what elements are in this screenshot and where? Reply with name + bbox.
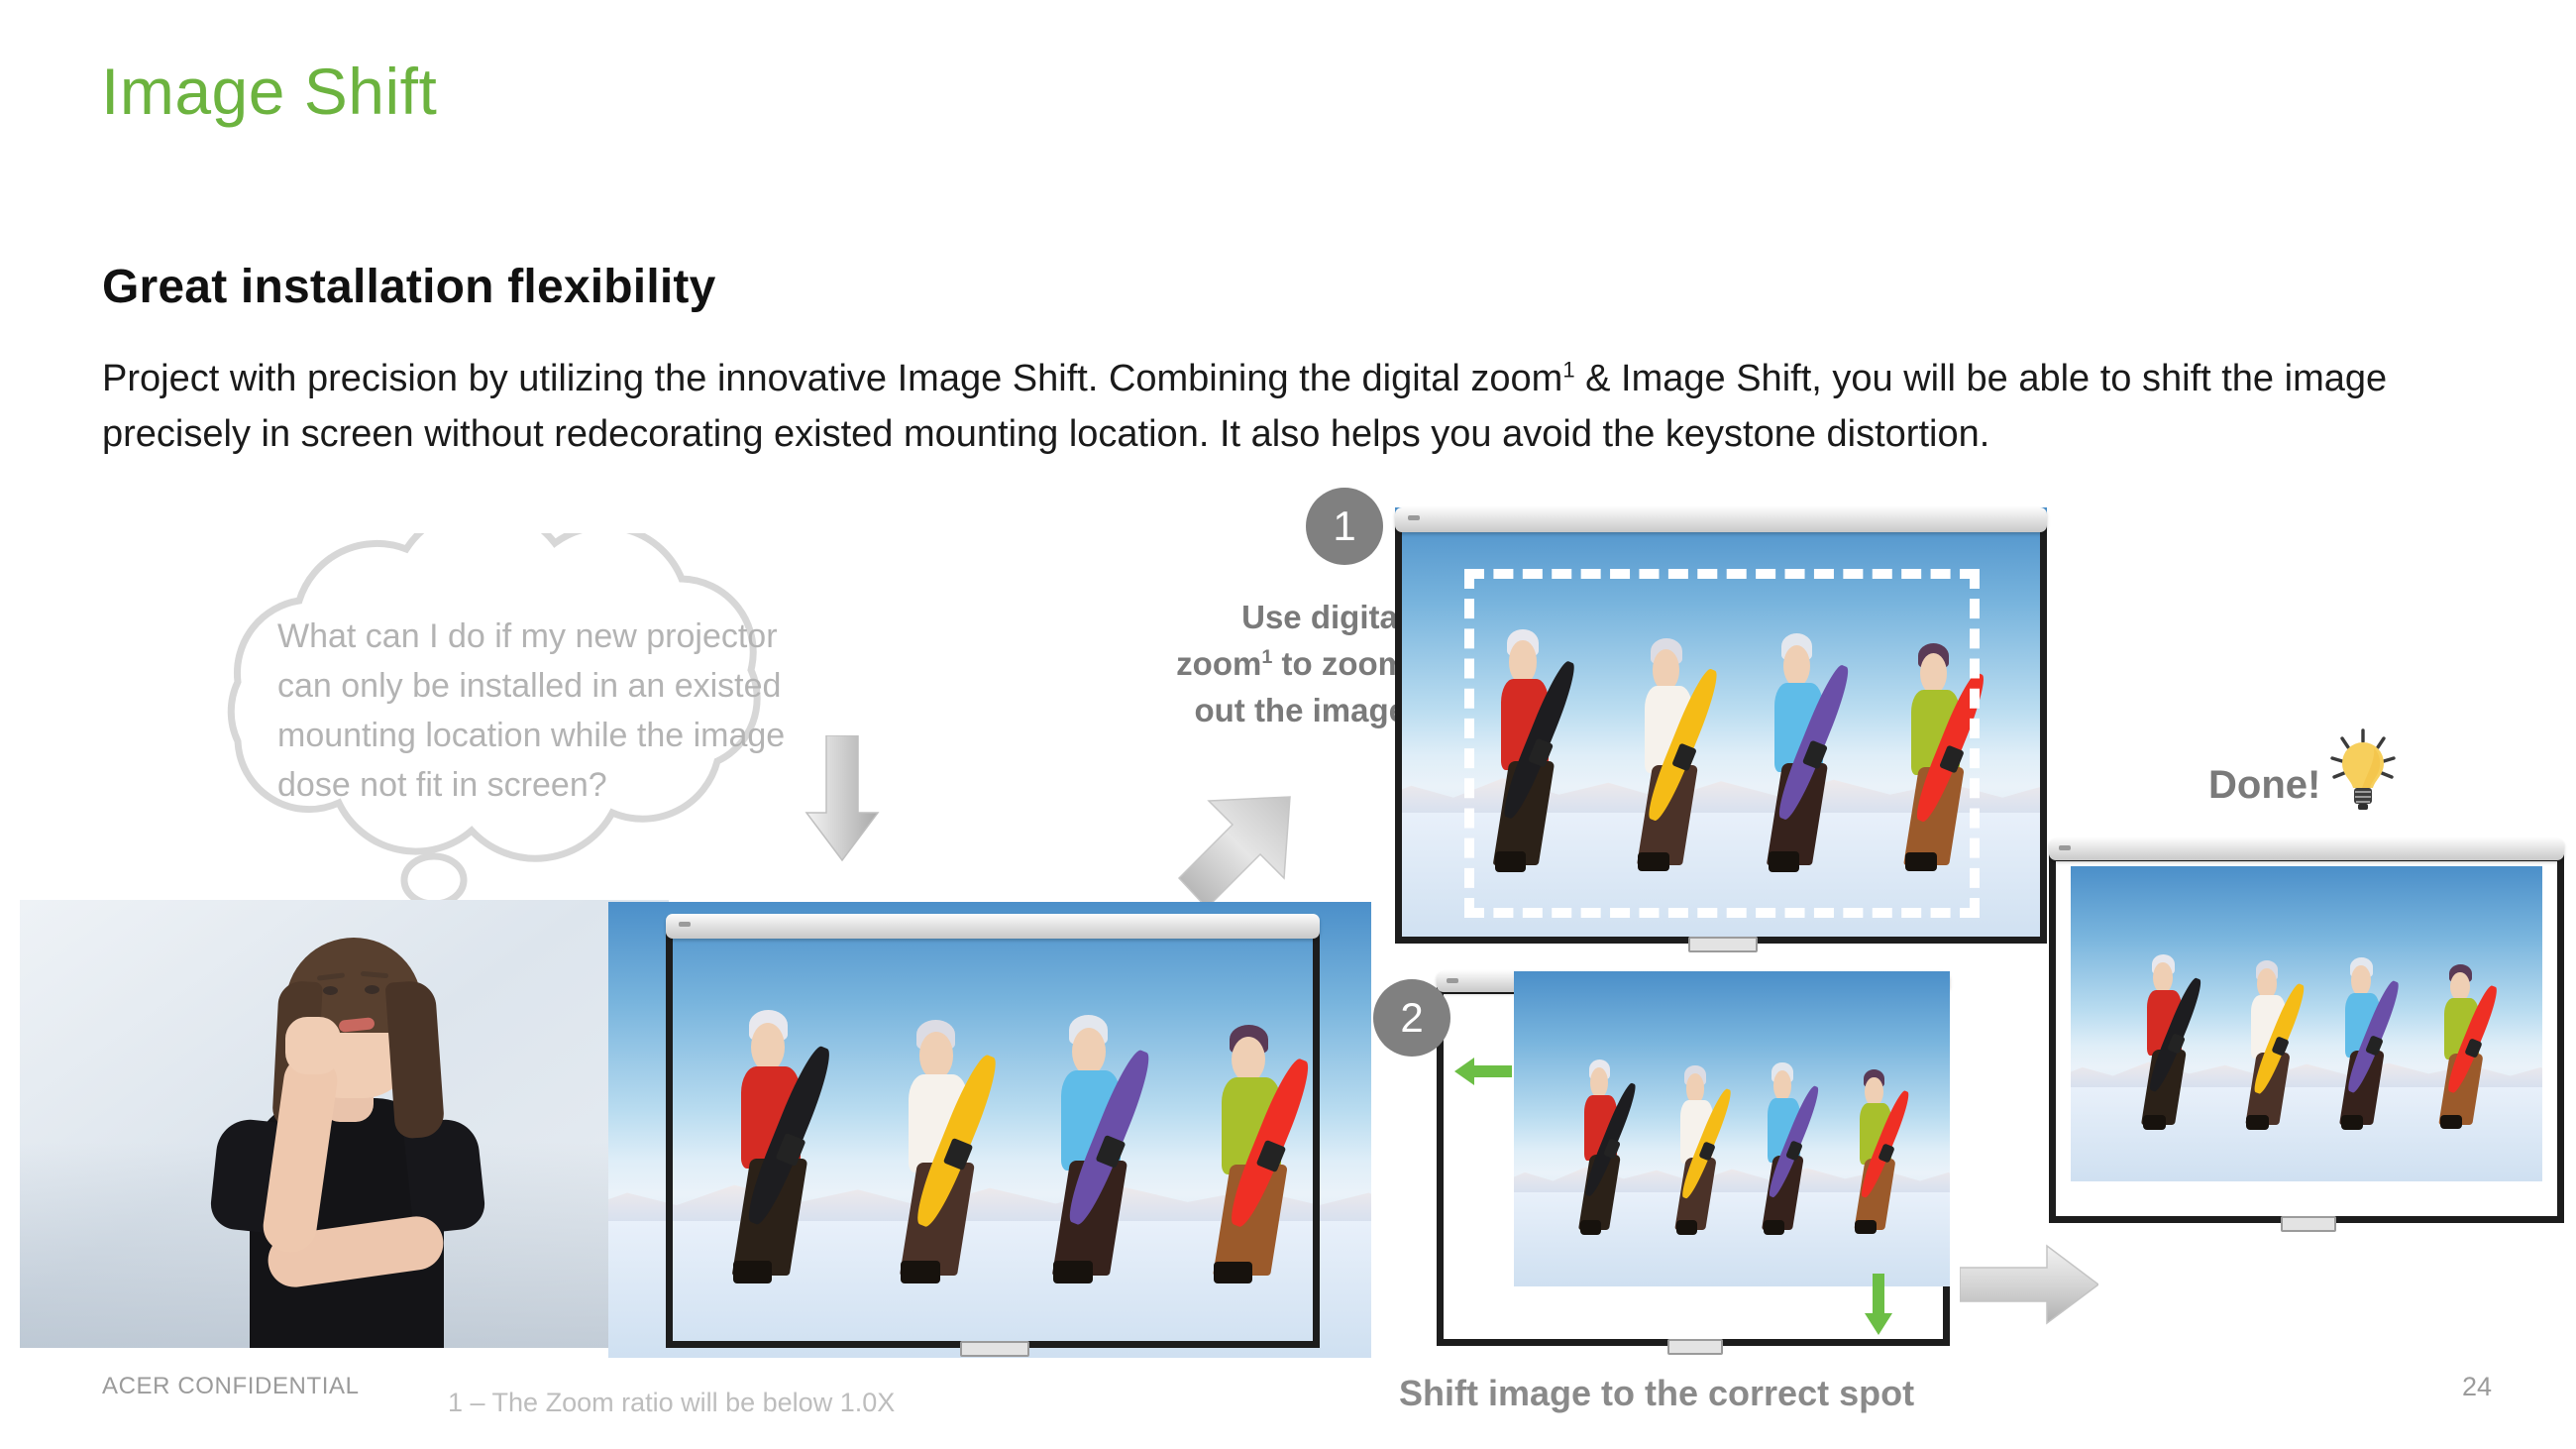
- rider-head: [1865, 1077, 1882, 1107]
- rider-boot: [2143, 1115, 2166, 1130]
- arrow-down-green-icon: [1863, 1274, 1894, 1335]
- snowboarder-blue: [1758, 1069, 1827, 1230]
- snowboarder-red: [1575, 1065, 1645, 1229]
- screen-step-1: [1395, 507, 2047, 944]
- rider-boot: [1764, 1220, 1784, 1235]
- screen-foot: [1688, 937, 1758, 952]
- rider-head: [2257, 968, 2277, 998]
- rider-boot: [1676, 1220, 1697, 1234]
- arrow-up-right-gray-icon: [1173, 793, 1300, 912]
- page-title: Image Shift: [101, 57, 437, 126]
- rider-head: [1590, 1067, 1608, 1098]
- thought-bubble: What can I do if my new projector can on…: [119, 533, 921, 949]
- lightbulb-icon: [2328, 728, 2398, 812]
- rider-head: [2351, 965, 2371, 996]
- snowboarder-green: [2434, 970, 2510, 1125]
- caption-line-3: out the image: [1194, 692, 1407, 728]
- rider-boot: [2440, 1115, 2463, 1129]
- confidential-label: ACER CONFIDENTIAL: [102, 1373, 360, 1400]
- screen-casing: [1395, 507, 2047, 532]
- screen-frame: [666, 932, 1320, 1348]
- paragraph-text-a: Project with precision by utilizing the …: [102, 358, 1562, 399]
- projected-image-fitted: [2071, 866, 2542, 1181]
- snowboarder-white: [2240, 967, 2315, 1125]
- rider-head: [1773, 1070, 1791, 1101]
- caption-line-2a: zoom: [1176, 645, 1261, 682]
- screen-casing: [2049, 838, 2564, 860]
- screen-foot: [960, 1341, 1029, 1357]
- section-heading: Great installation flexibility: [102, 260, 715, 314]
- step-badge-1: 1: [1306, 488, 1383, 565]
- thought-bubble-text: What can I do if my new projector can on…: [277, 613, 793, 811]
- caption-line-2b: to zoom: [1272, 645, 1407, 682]
- rider-head: [2450, 972, 2470, 1002]
- footnote-marker-1: 1: [1562, 357, 1574, 382]
- page-number: 24: [2462, 1372, 2492, 1402]
- arrow-down-gray-icon: [805, 735, 880, 862]
- rider-head: [1686, 1073, 1704, 1103]
- projected-image-offset: [1514, 971, 1950, 1286]
- screen-before: [666, 914, 1320, 1348]
- caption-line-1: Use digital: [1241, 599, 1407, 635]
- rider-boot: [1580, 1220, 1601, 1235]
- step-1-caption: Use digitalzoom1 to zoomout the image: [1110, 595, 1407, 734]
- step-badge-2: 2: [1373, 979, 1450, 1057]
- footnote-marker-1: 1: [1261, 646, 1272, 668]
- confused-person-photo: [20, 900, 669, 1348]
- rider-boot: [2341, 1115, 2364, 1130]
- footnote-text: 1 – The Zoom ratio will be below 1.0X: [448, 1388, 895, 1418]
- zoom-target-dashed-box: [1464, 569, 1980, 918]
- screen-casing: [666, 914, 1320, 939]
- arrow-left-green-icon: [1454, 1056, 1512, 1087]
- rider-head: [2153, 962, 2173, 993]
- body-paragraph: Project with precision by utilizing the …: [102, 352, 2420, 463]
- hair-right: [385, 979, 446, 1139]
- hand: [285, 1017, 341, 1074]
- slide-canvas: Image Shift Great installation flexibili…: [0, 0, 2576, 1449]
- rider-boot: [2246, 1115, 2269, 1129]
- snowboarder-white: [1670, 1072, 1740, 1230]
- eye-left: [323, 986, 338, 995]
- screen-result: [2049, 838, 2564, 1223]
- screen-foot: [2281, 1216, 2336, 1232]
- snowboarder-red: [2137, 960, 2212, 1124]
- done-label: Done!: [2208, 763, 2320, 808]
- snowboarder-green: [1850, 1075, 1919, 1230]
- screen-foot: [1667, 1339, 1723, 1355]
- step-2-caption: Shift image to the correct spot: [1399, 1373, 1914, 1414]
- arrow-right-gray-icon: [1960, 1244, 2098, 1325]
- snowboarder-blue: [2335, 964, 2411, 1125]
- eye-right: [365, 985, 379, 994]
- rider-boot: [1855, 1220, 1876, 1234]
